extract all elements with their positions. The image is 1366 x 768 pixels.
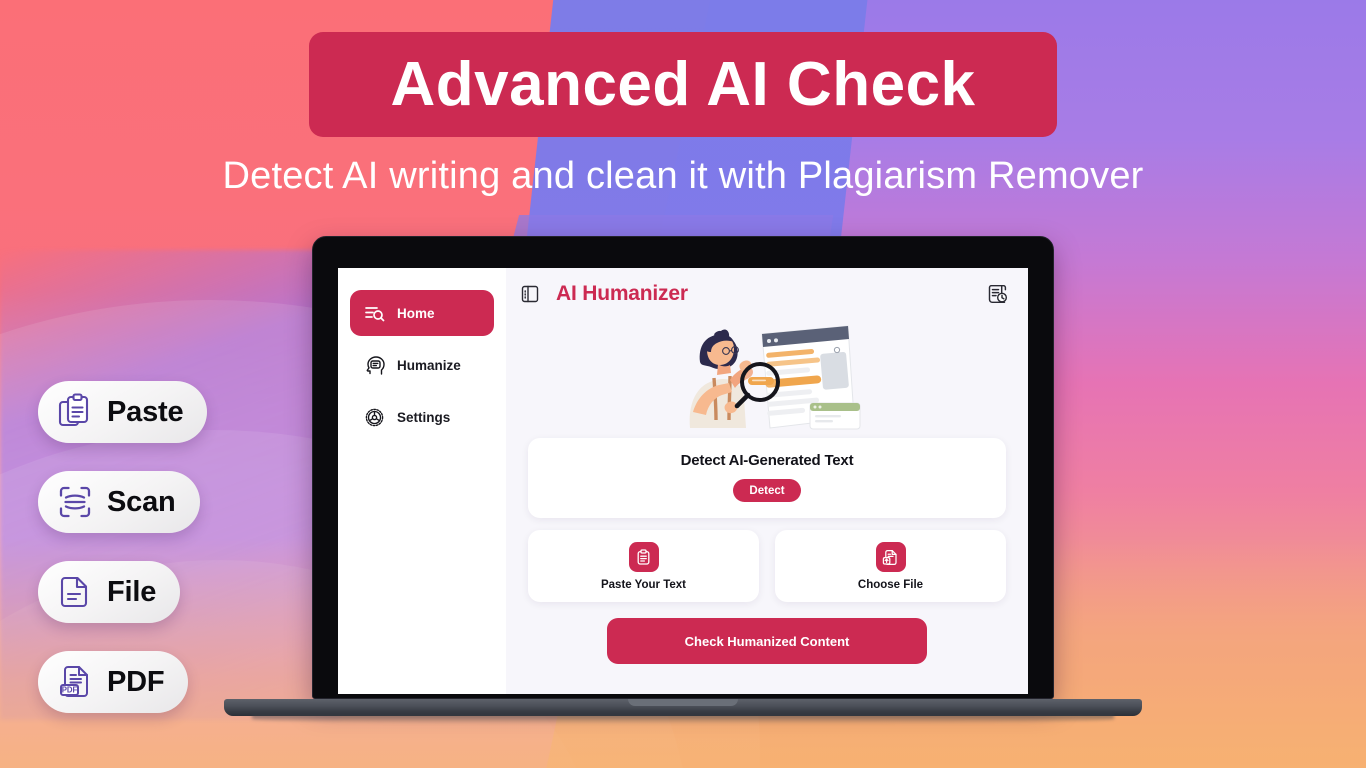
- app-window: Home Humanize: [338, 268, 1028, 694]
- detect-card-title: Detect AI-Generated Text: [528, 452, 1006, 469]
- check-humanized-content-button[interactable]: Check Humanized Content: [607, 618, 927, 664]
- app-title: AI Humanizer: [556, 282, 970, 306]
- action-card-label: Choose File: [858, 579, 923, 591]
- clipboard-icon: [629, 542, 659, 572]
- hero-illustration: [528, 320, 1006, 432]
- sidebar-panel-icon[interactable]: [520, 284, 540, 304]
- promo-screenshot: Advanced AI Check Detect AI writing and …: [0, 0, 1366, 768]
- sidebar-item-label: Home: [397, 306, 435, 321]
- laptop-screen: Home Humanize: [338, 268, 1028, 694]
- sidebar-item-settings[interactable]: Settings: [350, 394, 494, 440]
- action-card-label: Paste Your Text: [601, 579, 686, 591]
- file-upload-icon: [876, 542, 906, 572]
- laptop-base-shadow: [252, 714, 1114, 724]
- choose-file-card[interactable]: Choose File: [775, 530, 1006, 602]
- sidebar-item-label: Humanize: [397, 358, 461, 373]
- sidebar-item-humanize[interactable]: Humanize: [350, 342, 494, 388]
- action-card-row: Paste Your Text: [528, 530, 1006, 602]
- head-speech-bubble-icon: [364, 355, 385, 376]
- app-main: AI Humanizer: [506, 268, 1028, 694]
- detect-button[interactable]: Detect: [733, 479, 800, 502]
- app-header: AI Humanizer: [506, 268, 1028, 320]
- app-sidebar: Home Humanize: [338, 268, 506, 694]
- sidebar-item-home[interactable]: Home: [350, 290, 494, 336]
- laptop-mockup: Home Humanize: [0, 0, 1366, 768]
- document-history-icon[interactable]: [986, 283, 1008, 305]
- text-search-icon: [364, 303, 385, 324]
- paste-your-text-card[interactable]: Paste Your Text: [528, 530, 759, 602]
- detect-card: Detect AI-Generated Text Detect: [528, 438, 1006, 518]
- app-body: Detect AI-Generated Text Detect: [506, 320, 1028, 694]
- sidebar-item-label: Settings: [397, 410, 450, 425]
- gear-icon: [364, 407, 385, 428]
